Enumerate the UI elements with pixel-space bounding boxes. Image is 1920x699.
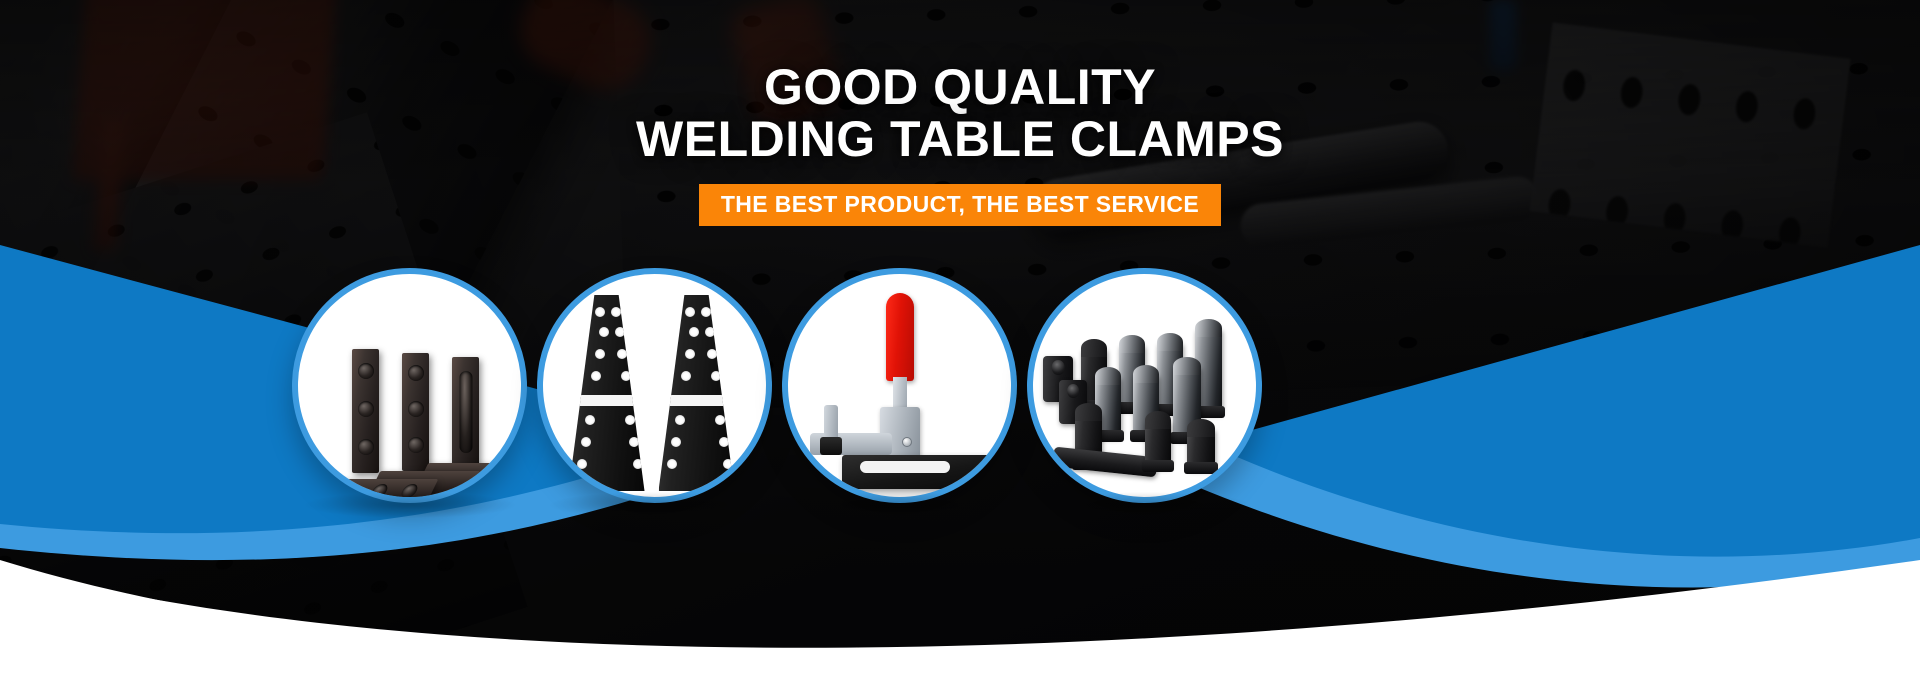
- circle-shadow-1: [305, 492, 515, 518]
- headline-line-1: GOOD QUALITY: [0, 62, 1920, 114]
- toggle-clamp-base-block: [842, 455, 992, 489]
- product-circle-angle-plate-clamps[interactable]: [292, 268, 527, 503]
- product-circle-toggle-clamp[interactable]: [782, 268, 1017, 503]
- circle-shadow-3: [795, 492, 1005, 518]
- product-hero-banner: GOOD QUALITY WELDING TABLE CLAMPS THE BE…: [0, 0, 1920, 699]
- toggle-clamp-rubber-tip: [820, 437, 842, 455]
- toggle-clamp-spindle: [824, 405, 838, 441]
- product-image-toggle-clamp: [788, 274, 1011, 497]
- product-circle-tall-brackets[interactable]: [537, 268, 772, 503]
- circle-shadow-4: [1040, 492, 1250, 518]
- product-image-tall-brackets: [543, 274, 766, 497]
- toggle-clamp-stem: [893, 377, 907, 411]
- headline-block: GOOD QUALITY WELDING TABLE CLAMPS: [0, 62, 1920, 165]
- headline-line-2: WELDING TABLE CLAMPS: [0, 114, 1920, 166]
- tagline-badge: THE BEST PRODUCT, THE BEST SERVICE: [699, 184, 1221, 226]
- product-image-angle-plate-clamps: [298, 274, 521, 497]
- toggle-clamp-red-handle: [886, 293, 914, 381]
- product-image-bolts-and-pins: [1033, 274, 1256, 497]
- tagline-block: THE BEST PRODUCT, THE BEST SERVICE: [0, 184, 1920, 226]
- product-circle-bolts-and-pins[interactable]: [1027, 268, 1262, 503]
- circle-shadow-2: [550, 492, 760, 518]
